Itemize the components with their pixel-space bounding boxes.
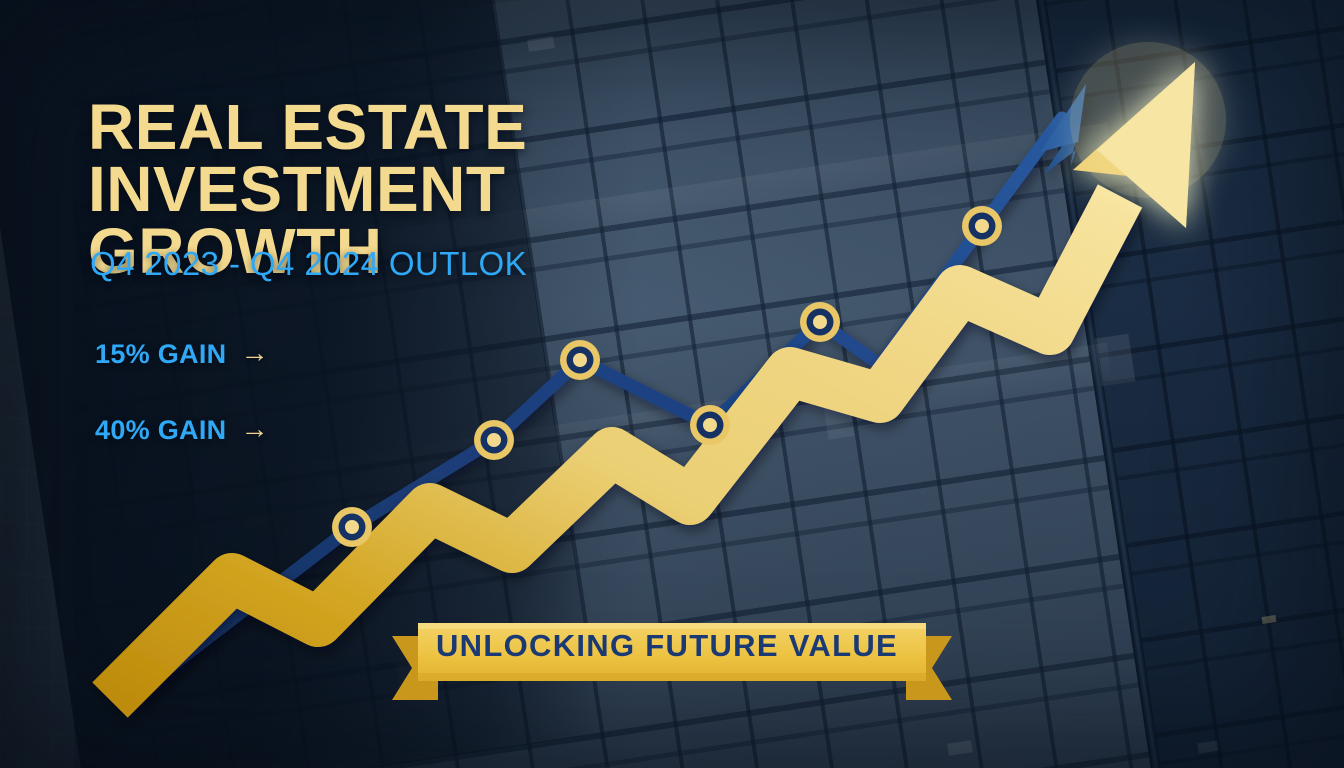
page-subtitle: Q4 2023 - Q4 2024 OUTLOK xyxy=(90,245,527,283)
ribbon-plate xyxy=(418,623,926,681)
stat-item: 15% GAIN → xyxy=(95,330,268,378)
stat-label: 15% GAIN xyxy=(95,339,226,370)
stats-list: 15% GAIN → 40% GAIN → xyxy=(95,330,268,482)
data-point-marker xyxy=(962,206,1002,246)
arrow-right-icon: → xyxy=(240,339,268,367)
poster-root: REAL ESTATE INVESTMENT GROWTH Q4 2023 - … xyxy=(0,0,1344,768)
title-line-1: REAL ESTATE INVESTMENT xyxy=(88,96,948,220)
data-point-marker xyxy=(690,405,730,445)
stat-label: 40% GAIN xyxy=(95,415,226,446)
data-point-marker xyxy=(800,302,840,342)
data-point-marker xyxy=(474,420,514,460)
stat-item: 40% GAIN → xyxy=(95,406,268,454)
data-point-marker xyxy=(332,507,372,547)
data-point-marker xyxy=(560,340,600,380)
ribbon-banner xyxy=(392,623,952,700)
arrow-right-icon: → xyxy=(240,415,268,443)
